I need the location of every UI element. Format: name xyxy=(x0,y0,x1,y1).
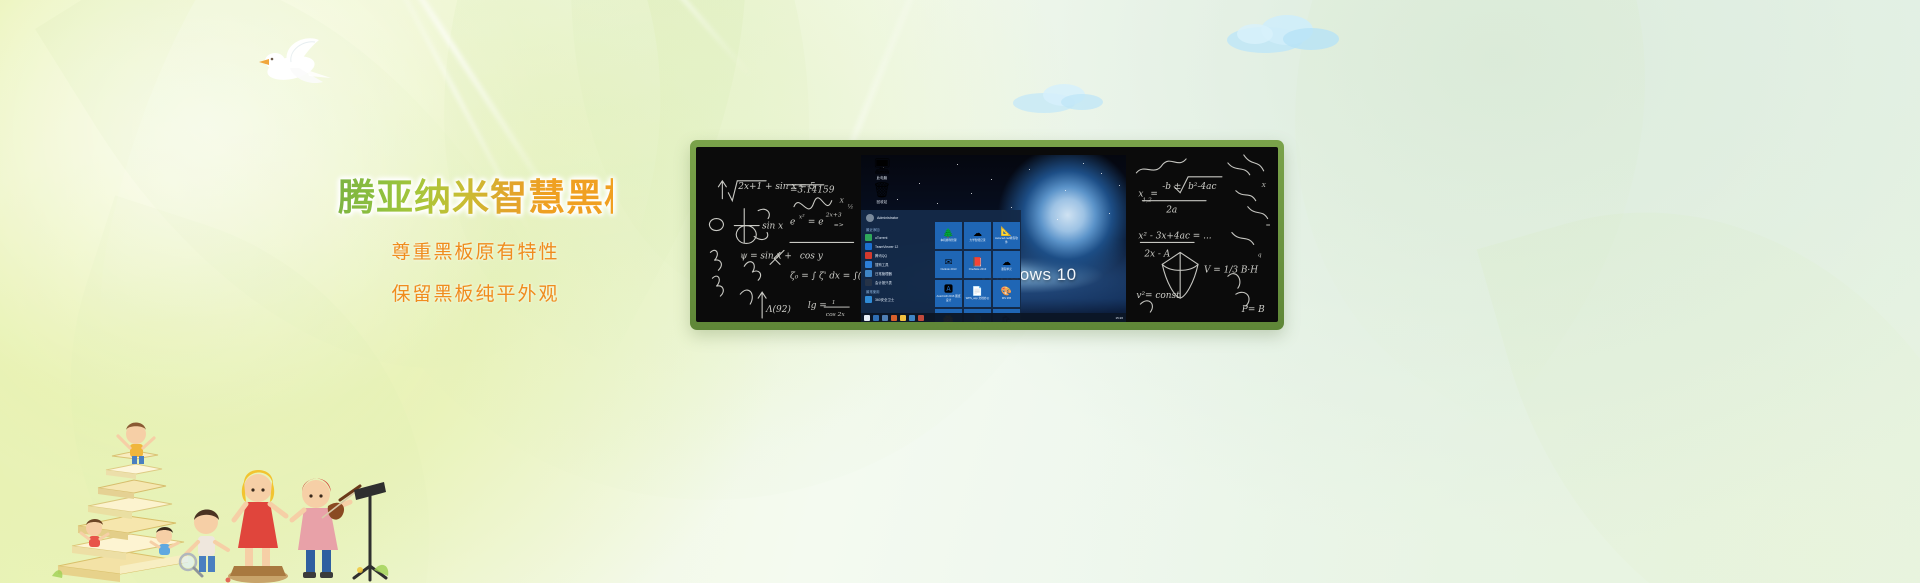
blackboard-surface: 2x+1 + sin x = 5 =3.14159 sin x e = e ψ … xyxy=(696,147,1278,322)
taskbar-clock: 15:26 xyxy=(1115,316,1123,320)
svg-text:2x - A: 2x - A xyxy=(1143,249,1170,259)
svg-text:2a: 2a xyxy=(1165,206,1177,216)
tile-cloud-icon: ☁ xyxy=(973,229,982,238)
svg-text:v²= const: v²= const xyxy=(1136,291,1180,301)
start-tile[interactable]: 📕 OneNote 2013 xyxy=(964,251,991,278)
start-menu[interactable]: Administrator 最近添加 uTorrent TeamViewer 1… xyxy=(861,210,1021,322)
app-icon xyxy=(865,234,872,241)
start-menu-item-label: 腾讯QQ xyxy=(875,253,887,258)
page-title: 腾亚纳米智慧黑板 xyxy=(338,178,613,218)
windows-screen[interactable]: 🖥 此电脑 🗑 回收站 Windows 10 Administrator xyxy=(861,155,1126,322)
start-menu-item-label: TeamViewer 12 xyxy=(875,245,898,249)
children-reading-illustration xyxy=(48,370,398,583)
start-menu-item[interactable]: 日常管理器 xyxy=(865,269,929,278)
start-menu-tiles: 🌲 本机邮件管理 ☁ 大学智能记录 📐 Autocad cad教程软件 xyxy=(935,222,1021,322)
svg-text:ζ₀ = ∫ ζ' dx = ∫(n): ζ₀ = ∫ ζ' dx = ∫(n) xyxy=(790,270,864,281)
start-menu-section-label: 最常使用 xyxy=(861,287,933,295)
svg-text:x²: x² xyxy=(799,214,805,221)
svg-text:P= B: P= B xyxy=(1241,305,1265,315)
start-tile[interactable]: ☁ 大学智能记录 xyxy=(964,222,991,249)
tile-wps-icon: 📄 xyxy=(972,287,983,296)
media-icon[interactable] xyxy=(918,315,924,321)
desktop-icon-this-pc[interactable]: 🖥 此电脑 xyxy=(865,159,899,180)
tile-tree-icon: 🌲 xyxy=(943,229,954,238)
tree-stump xyxy=(228,566,288,583)
hero-subtitle-2: 保留黑板纯平外观 xyxy=(338,285,613,306)
tile-label: OneNote 2013 xyxy=(968,268,987,271)
kid-with-magnifier xyxy=(180,510,228,577)
tile-paint-icon: 🎨 xyxy=(1001,287,1012,296)
app-icon xyxy=(865,296,872,303)
start-menu-app-list: uTorrent TeamViewer 12 腾讯QQ xyxy=(861,233,933,287)
start-menu-left-column: Administrator 最近添加 uTorrent TeamViewer 1… xyxy=(861,210,933,322)
start-tile[interactable]: 📄 WPS_app 文档办公 xyxy=(964,280,991,307)
start-tile[interactable]: 📐 Autocad cad教程软件 xyxy=(993,222,1020,249)
taskbar[interactable]: 15:26 xyxy=(861,313,1126,322)
tile-label: Autocad cad教程软件 xyxy=(993,237,1020,243)
start-menu-item-label: 360安全卫士 xyxy=(875,297,894,302)
boy-violinist xyxy=(292,479,360,579)
start-tile[interactable]: ☁ 课程单元 xyxy=(993,251,1020,278)
hero-subtitles: 尊重黑板原有特性 保留黑板纯平外观 xyxy=(338,243,613,306)
start-tile[interactable]: 🅰 AutoCAD 2016 图纸设计 xyxy=(935,280,962,307)
tile-autodesk-icon: 🅰 xyxy=(944,285,953,294)
start-menu-item-label: uTorrent xyxy=(875,236,887,240)
svg-text:b²-4ac: b²-4ac xyxy=(1188,182,1216,192)
svg-text:=: = xyxy=(1266,222,1271,229)
desktop-icon-label: 此电脑 xyxy=(865,175,899,180)
svg-text:½: ½ xyxy=(848,204,854,211)
user-name: Administrator xyxy=(877,216,898,220)
start-menu-item[interactable]: 搜狗工具 xyxy=(865,260,929,269)
tile-label: WPS_app 文档办公 xyxy=(965,297,991,300)
svg-text:X: X xyxy=(1261,182,1267,189)
this-pc-icon: 🖥 xyxy=(865,159,899,174)
tile-label: MS 365 xyxy=(1001,297,1012,300)
start-menu-item[interactable]: TeamViewer 12 xyxy=(865,242,929,251)
tile-onenote-icon: 📕 xyxy=(972,258,983,267)
start-menu-item-label: 日常管理器 xyxy=(875,271,892,276)
start-button-icon[interactable] xyxy=(864,315,870,321)
svg-text:e: e xyxy=(790,218,795,228)
svg-text:cos y: cos y xyxy=(800,251,824,261)
chalk-formulas-right: x = -b ± b²-4ac 2a x² - 3x+4ac = ... 2x … xyxy=(1132,147,1278,322)
start-menu-item-label: 搜狗工具 xyxy=(875,262,889,267)
start-menu-item[interactable]: uTorrent xyxy=(865,233,929,242)
tile-label: 大学智能记录 xyxy=(968,239,986,242)
edge-icon[interactable] xyxy=(891,315,897,321)
hero-subtitle-1: 尊重黑板原有特性 xyxy=(338,243,613,264)
avatar xyxy=(866,214,874,222)
headline-wrap: 腾亚纳米智慧黑板 腾亚纳米智慧黑板 xyxy=(338,178,613,218)
start-menu-frequent-list: 360安全卫士 xyxy=(861,295,933,304)
cloud-icon-1 xyxy=(1225,8,1345,60)
start-tile[interactable]: ✉ Outlook 2013 xyxy=(935,251,962,278)
tile-autocad-icon: 📐 xyxy=(1001,227,1012,236)
start-menu-user[interactable]: Administrator xyxy=(861,210,933,225)
store-icon[interactable] xyxy=(909,315,915,321)
desktop-icon-label: 回收站 xyxy=(865,199,899,204)
girl-red-dress xyxy=(234,470,286,578)
start-menu-item[interactable]: 会计报只表 xyxy=(865,278,929,287)
app-icon xyxy=(865,261,872,268)
chalk-formulas-left: 2x+1 + sin x = 5 =3.14159 sin x e = e ψ … xyxy=(704,147,864,322)
app-icon xyxy=(865,243,872,250)
book-stack xyxy=(58,451,188,582)
svg-text:-b ±: -b ± xyxy=(1162,182,1181,192)
svg-text:lg =: lg = xyxy=(808,301,827,311)
start-menu-item[interactable]: 360安全卫士 xyxy=(865,295,929,304)
app-icon xyxy=(865,270,872,277)
search-icon[interactable] xyxy=(873,315,879,321)
start-tile[interactable]: 🌲 本机邮件管理 xyxy=(935,222,962,249)
start-menu-item-label: 会计报只表 xyxy=(875,280,892,285)
task-view-icon[interactable] xyxy=(882,315,888,321)
svg-text:X: X xyxy=(839,198,845,205)
svg-text:2x+3: 2x+3 xyxy=(825,212,842,219)
svg-text:1,2: 1,2 xyxy=(1142,197,1152,204)
tile-label: 课程单元 xyxy=(1000,268,1013,271)
start-menu-item[interactable]: 腾讯QQ xyxy=(865,251,929,260)
dove-icon xyxy=(245,28,340,98)
svg-text:q: q xyxy=(1258,251,1262,258)
svg-text:ψ = sin x +: ψ = sin x + xyxy=(740,251,792,261)
start-tile[interactable]: 🎨 MS 365 xyxy=(993,280,1020,307)
app-icon xyxy=(865,252,872,259)
svg-text:x² - 3x+4ac = ...: x² - 3x+4ac = ... xyxy=(1138,231,1211,241)
recycle-bin-icon: 🗑 xyxy=(865,183,899,198)
app-icon xyxy=(865,279,872,286)
explorer-icon[interactable] xyxy=(900,315,906,321)
cloud-icon-2 xyxy=(1010,78,1105,118)
smart-blackboard[interactable]: 2x+1 + sin x = 5 =3.14159 sin x e = e ψ … xyxy=(690,140,1284,330)
tile-label: Outlook 2013 xyxy=(940,268,958,271)
svg-text:V = 1/3 B·H: V = 1/3 B·H xyxy=(1204,265,1258,275)
tile-label: AutoCAD 2016 图纸设计 xyxy=(935,295,962,301)
svg-text:1: 1 xyxy=(832,299,836,306)
start-menu-section-label: 最近添加 xyxy=(861,225,933,233)
svg-text:sin x: sin x xyxy=(762,222,783,232)
desktop-icon-recycle-bin[interactable]: 🗑 回收站 xyxy=(865,183,899,204)
banner-stage: 腾亚纳米智慧黑板 腾亚纳米智慧黑板 尊重黑板原有特性 保留黑板纯平外观 xyxy=(0,0,1920,583)
svg-text:= e: = e xyxy=(808,218,824,228)
svg-text:=>: => xyxy=(834,222,844,229)
svg-text:cos 2x: cos 2x xyxy=(826,311,846,318)
tile-label: 本机邮件管理 xyxy=(939,239,957,242)
tile-cloud2-icon: ☁ xyxy=(1002,258,1011,267)
hero-copy: 腾亚纳米智慧黑板 腾亚纳米智慧黑板 尊重黑板原有特性 保留黑板纯平外观 xyxy=(338,178,613,327)
svg-text:=3.14159: =3.14159 xyxy=(790,186,835,196)
svg-text:Λ(92): Λ(92) xyxy=(765,304,791,315)
tile-outlook-icon: ✉ xyxy=(945,258,953,267)
